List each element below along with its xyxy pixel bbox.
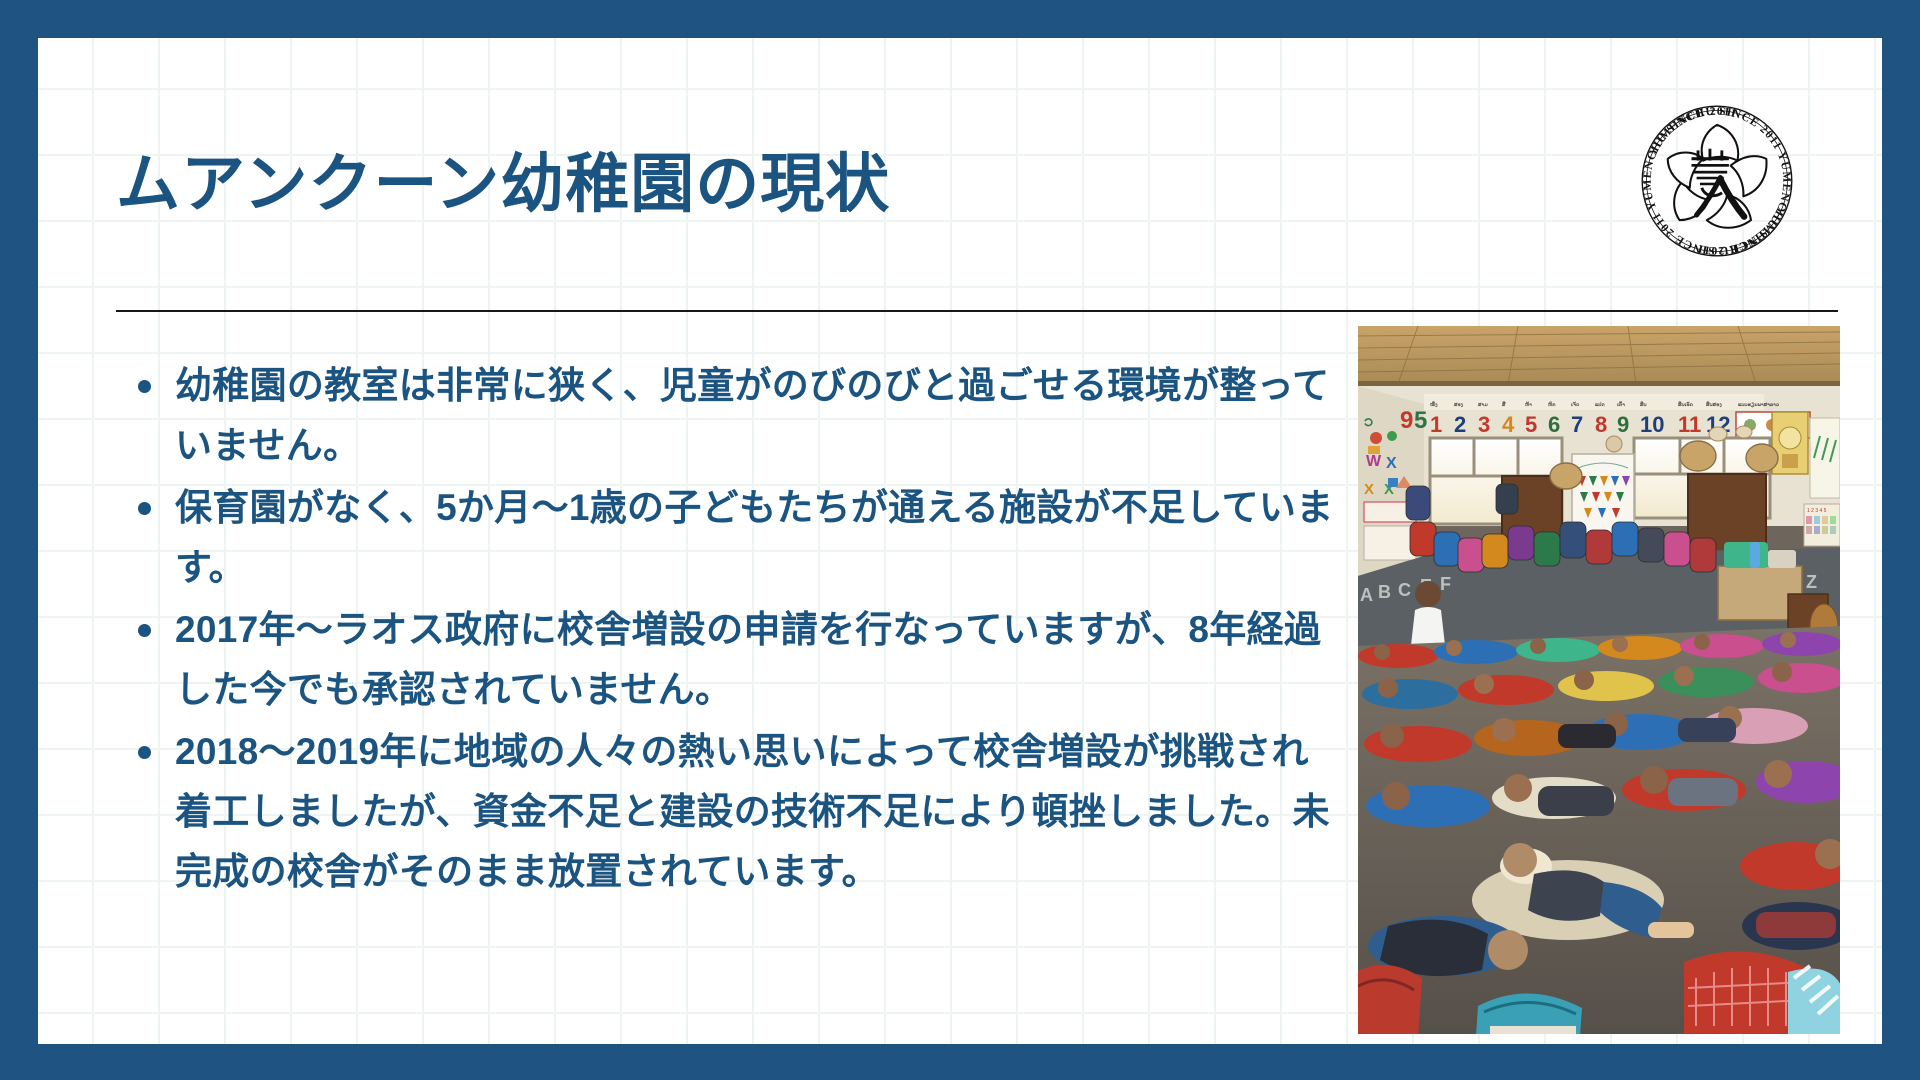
- svg-text:C: C: [1398, 580, 1411, 600]
- svg-text:10: 10: [1640, 412, 1664, 437]
- svg-text:9: 9: [1617, 412, 1629, 437]
- svg-text:B: B: [1378, 582, 1391, 602]
- bullet-text: 幼稚園の教室は非常に狭く、児童がのびのびと過ごせる環境が整っていません。: [175, 356, 1338, 476]
- svg-text:5: 5: [1414, 407, 1427, 434]
- svg-text:8: 8: [1595, 412, 1607, 437]
- svg-text:ສາມ: ສາມ: [1478, 402, 1488, 408]
- svg-text:4: 4: [1502, 412, 1515, 437]
- bullet-text: 2018〜2019年に地域の人々の熱い思いによって校舎増設が挑戦され着工しました…: [175, 722, 1338, 902]
- svg-text:3: 3: [1478, 412, 1490, 437]
- list-item: 2018〜2019年に地域の人々の熱い思いによって校舎増設が挑戦され着工しました…: [138, 722, 1338, 902]
- svg-text:ສອງ: ສອງ: [1454, 402, 1464, 408]
- bullet-text: 2017年〜ラオス政府に校舎増設の申請を行なっていますが、8年経過した今でも承認…: [175, 600, 1338, 720]
- svg-text:ເຈັດ: ເຈັດ: [1571, 400, 1580, 408]
- svg-text:F: F: [1440, 574, 1451, 594]
- svg-text:1: 1: [1430, 412, 1442, 437]
- svg-text:Z: Z: [1806, 572, 1817, 592]
- svg-text:5: 5: [1525, 412, 1537, 437]
- bullet-dot-icon: [138, 502, 151, 515]
- yumenchu-logo: YUMENCHU SINCE 2011 YUMENCHU SINCE 2011 …: [1632, 96, 1802, 266]
- svg-text:ຫ້າ: ຫ້າ: [1525, 400, 1532, 408]
- bullet-dot-icon: [138, 624, 151, 637]
- page-title: ムアンクーン幼稚園の現状: [116, 148, 890, 222]
- svg-text:A: A: [1360, 585, 1373, 605]
- bullet-text: 保育園がなく、5か月〜1歳の子どもたちが通える施設が不足しています。: [175, 478, 1338, 598]
- svg-text:X: X: [1386, 455, 1397, 472]
- list-item: 2017年〜ラオス政府に校舎増設の申請を行なっていますが、8年経過した今でも承認…: [138, 600, 1338, 720]
- classroom-nap-photo: ၥ W X X X 9 5 1: [1358, 326, 1840, 1034]
- bullet-list: 幼稚園の教室は非常に狭く、児童がのびのびと過ごせる環境が整っていません。 保育園…: [138, 356, 1338, 903]
- svg-text:6: 6: [1548, 412, 1560, 437]
- svg-text:ແປດ: ແປດ: [1595, 401, 1605, 408]
- svg-text:7: 7: [1571, 412, 1583, 437]
- svg-text:ແບບຮຽນພາສາລາວ: ແບບຮຽນພາສາລາວ: [1738, 402, 1779, 408]
- svg-text:ၥ: ၥ: [1364, 411, 1374, 430]
- svg-text:ຫົກ: ຫົກ: [1548, 401, 1556, 408]
- title-divider: [116, 310, 1838, 312]
- svg-text:ເກົ້າ: ເກົ້າ: [1617, 400, 1625, 408]
- svg-text:2: 2: [1454, 412, 1466, 437]
- svg-text:ສິບເອັດ: ສິບເອັດ: [1678, 400, 1694, 408]
- list-item: 幼稚園の教室は非常に狭く、児童がのびのびと過ごせる環境が整っていません。: [138, 356, 1338, 476]
- svg-text:9: 9: [1400, 407, 1413, 434]
- slide-root: ムアンクーン幼稚園の現状 YUMENCHU SINCE 2011 YUMENCH…: [0, 0, 1920, 1080]
- svg-text:11: 11: [1678, 412, 1701, 437]
- svg-text:ສິບ: ສິບ: [1640, 400, 1647, 408]
- slide-canvas: ムアンクーン幼稚園の現状 YUMENCHU SINCE 2011 YUMENCH…: [38, 38, 1882, 1044]
- svg-text:X: X: [1364, 481, 1374, 498]
- bullet-dot-icon: [138, 746, 151, 759]
- list-item: 保育園がなく、5か月〜1歳の子どもたちが通える施設が不足しています。: [138, 478, 1338, 598]
- svg-text:1 2 3 4 5: 1 2 3 4 5: [1807, 508, 1827, 514]
- svg-text:ສິບສອງ: ສິບສອງ: [1706, 400, 1723, 408]
- bullet-dot-icon: [138, 380, 151, 393]
- svg-text:W: W: [1366, 453, 1382, 470]
